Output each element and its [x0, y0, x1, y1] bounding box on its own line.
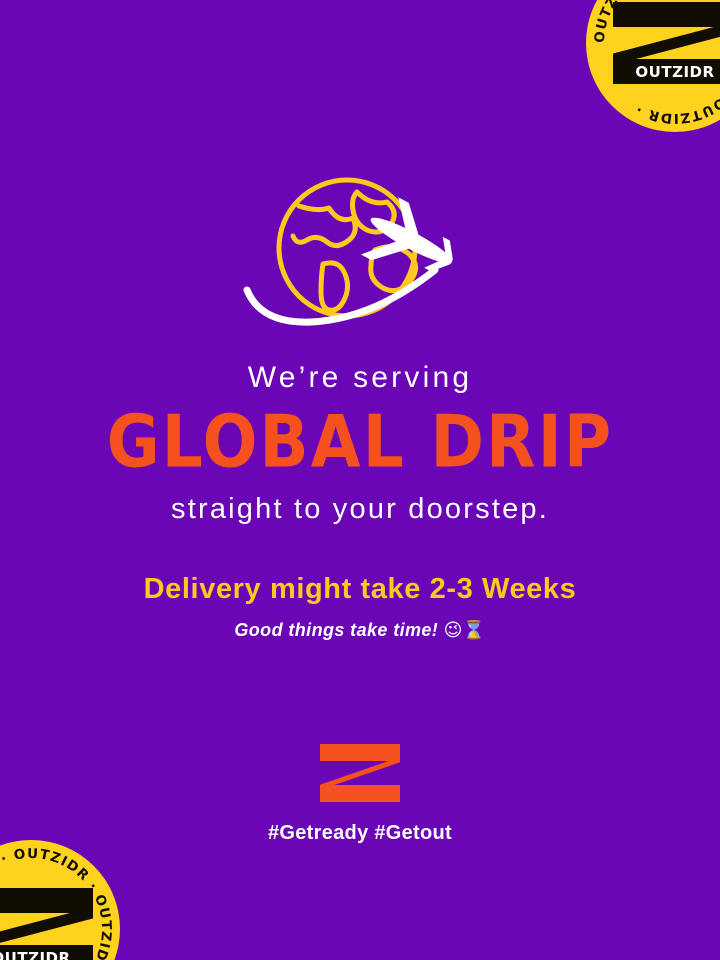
z-logo: [320, 744, 400, 802]
globe-airplane-illustration: [0, 168, 720, 333]
promo-poster: OUTZIDR · OUTZIDR · OUTZIDR · OUTZIDR · …: [0, 0, 720, 960]
subheadline-text: straight to your doorstep.: [0, 494, 720, 526]
wink-hourglass-emoji: 😉⌛: [444, 620, 486, 641]
z-logo-top-bar: [320, 744, 400, 761]
outzidr-badge-top-right: OUTZIDR · OUTZIDR · OUTZIDR · OUTZIDR · …: [586, 0, 720, 132]
poster-copy: We’re serving GLOBAL DRIP straight to yo…: [0, 362, 720, 642]
zmark-top-bar: [613, 2, 720, 27]
eyebrow-text: We’re serving: [0, 362, 720, 394]
footer-lockup: #Getready #Getout: [0, 744, 720, 845]
page-title: GLOBAL DRIP: [0, 406, 720, 478]
delivery-estimate-text: Delivery might take 2-3 Weeks: [0, 574, 720, 606]
zmark-top-bar: [0, 888, 93, 913]
z-logo-bottom-bar: [320, 785, 400, 802]
badge-zmark-top-right: OUTZIDR: [613, 2, 720, 84]
tagline-row: Good things take time! 😉⌛: [0, 620, 720, 642]
globe-landmass-left: [293, 206, 355, 246]
globe-plane-svg: [235, 168, 485, 333]
badge-zmark-bottom-left: OUTZIDR: [0, 888, 93, 960]
outzidr-badge-bottom-left: OUTZIDR · OUTZIDR · OUTZIDR · OUTZIDR · …: [0, 840, 120, 960]
globe-landmass-bottom: [321, 263, 348, 310]
badge-wordmark: OUTZIDR: [0, 947, 88, 960]
tagline-text: Good things take time!: [234, 620, 438, 640]
badge-wordmark: OUTZIDR: [618, 61, 720, 82]
